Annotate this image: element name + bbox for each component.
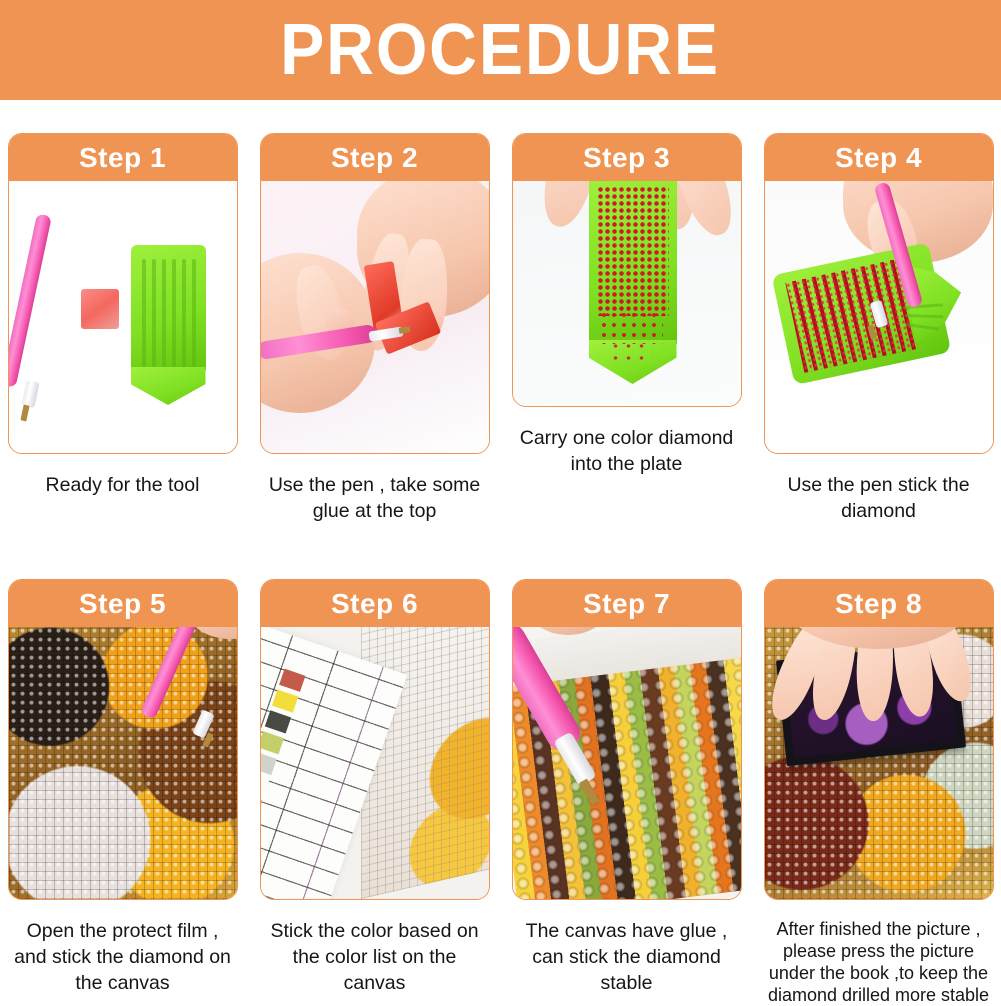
step-caption-7: The canvas have glue , can stick the dia…: [512, 918, 742, 996]
step-cell-4: Step 4: [764, 133, 994, 524]
step-header-7: Step 7: [513, 580, 741, 627]
procedure-infographic: PROCEDURE Step 1: [0, 0, 1001, 1001]
step-caption-2: Use the pen , take some glue at the top: [260, 472, 490, 524]
steps-row-1: Step 1: [0, 100, 1001, 524]
step-header-3: Step 3: [513, 134, 741, 181]
step-caption-8: After finished the picture , please pres…: [764, 918, 994, 1006]
step-header-5: Step 5: [9, 580, 237, 627]
step-header-8: Step 8: [765, 580, 993, 627]
step-header-1: Step 1: [9, 134, 237, 181]
step-card-2: Step 2: [260, 133, 490, 454]
step-caption-1: Ready for the tool: [8, 472, 238, 498]
step-caption-3: Carry one color diamond into the plate: [512, 425, 742, 477]
step-card-7: Step 7: [512, 579, 742, 900]
step-header-2: Step 2: [261, 134, 489, 181]
step-header-4: Step 4: [765, 134, 993, 181]
step-photo-7: [513, 627, 741, 899]
step-cell-2: Step 2: [260, 133, 490, 524]
step-card-4: Step 4: [764, 133, 994, 454]
step-photo-6: [261, 627, 489, 899]
step-card-6: Step 6: [260, 579, 490, 900]
step-cell-1: Step 1: [8, 133, 238, 524]
step-card-8: Step 8: [764, 579, 994, 900]
step-cell-8: Step 8: [764, 579, 994, 1006]
step-card-1: Step 1: [8, 133, 238, 454]
step-caption-4: Use the pen stick the diamond: [764, 472, 994, 524]
page-title: PROCEDURE: [281, 14, 721, 86]
step-cell-3: Step 3 Carry one color diamond into the …: [512, 133, 742, 524]
steps-row-2: Step 5 Open the protect film , and stick…: [0, 556, 1001, 1006]
step-photo-4: [765, 181, 993, 453]
step-caption-6: Stick the color based on the color list …: [260, 918, 490, 996]
step-cell-7: Step 7 The canvas: [512, 579, 742, 1006]
step-photo-8: [765, 627, 993, 899]
step-cell-6: Step 6: [260, 579, 490, 1006]
step-cell-5: Step 5 Open the protect film , and stick…: [8, 579, 238, 1006]
step-header-6: Step 6: [261, 580, 489, 627]
step-card-3: Step 3: [512, 133, 742, 407]
step-photo-2: [261, 181, 489, 453]
step-card-5: Step 5: [8, 579, 238, 900]
step-photo-5: [9, 627, 237, 899]
page-banner: PROCEDURE: [0, 0, 1001, 100]
step-photo-1: [9, 181, 237, 453]
step-caption-5: Open the protect film , and stick the di…: [8, 918, 238, 996]
